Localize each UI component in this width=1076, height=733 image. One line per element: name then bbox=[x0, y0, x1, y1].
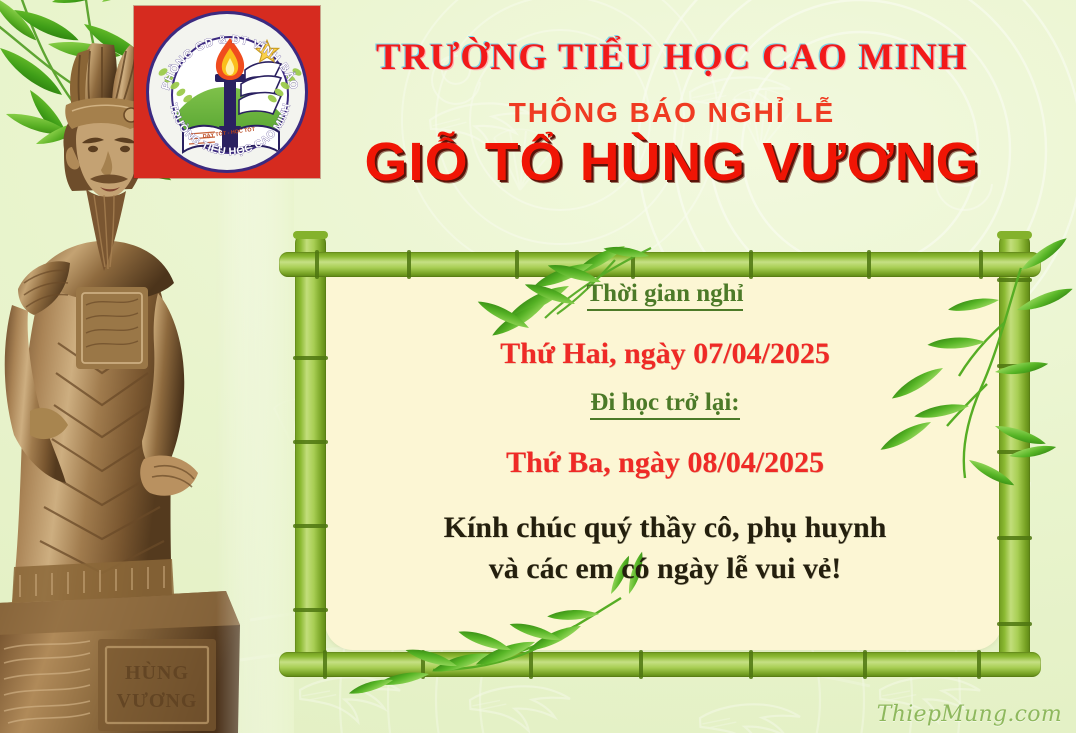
rest-label-row: Thời gian nghỉ bbox=[325, 280, 1005, 311]
school-logo: DẠY TỐT - HỌC TỐT PHÒNG GD & ĐT VĨNH BẢO… bbox=[134, 6, 320, 178]
bamboo-pole-left bbox=[295, 234, 326, 676]
site-watermark: ThiepMung.com bbox=[877, 702, 1062, 727]
wish-line-1: Kính chúc quý thầy cô, phụ huynh bbox=[325, 508, 1005, 549]
svg-text:VƯƠNG: VƯƠNG bbox=[117, 690, 198, 712]
return-label: Đi học trở lại: bbox=[590, 389, 739, 420]
header-block: TRƯỜNG TIỂU HỌC CAO MINH THÔNG BÁO NGHỈ … bbox=[322, 36, 1022, 193]
logo-disc: DẠY TỐT - HỌC TỐT PHÒNG GD & ĐT VĨNH BẢO… bbox=[146, 11, 308, 173]
holiday-title: GIỖ TỔ HÙNG VƯƠNG bbox=[315, 131, 1029, 193]
svg-text:HÙNG: HÙNG bbox=[125, 660, 189, 684]
notice-text-block: Thời gian nghỉ Thứ Hai, ngày 07/04/2025 … bbox=[325, 280, 1005, 590]
rest-date: Thứ Hai, ngày 07/04/2025 bbox=[325, 337, 1005, 371]
greeting-card: HÙNG VƯƠNG bbox=[0, 0, 1076, 733]
school-name-heading: TRƯỜNG TIỂU HỌC CAO MINH bbox=[322, 36, 1022, 79]
bamboo-pole-bottom bbox=[279, 652, 1041, 677]
notice-kicker: THÔNG BÁO NGHỈ LỄ bbox=[322, 97, 1022, 129]
wish-line-2: và các em có ngày lễ vui vẻ! bbox=[325, 549, 1005, 590]
return-date: Thứ Ba, ngày 08/04/2025 bbox=[325, 446, 1005, 480]
rest-label: Thời gian nghỉ bbox=[587, 280, 744, 311]
return-label-row: Đi học trở lại: bbox=[325, 389, 1005, 420]
bamboo-pole-top bbox=[279, 252, 1041, 277]
